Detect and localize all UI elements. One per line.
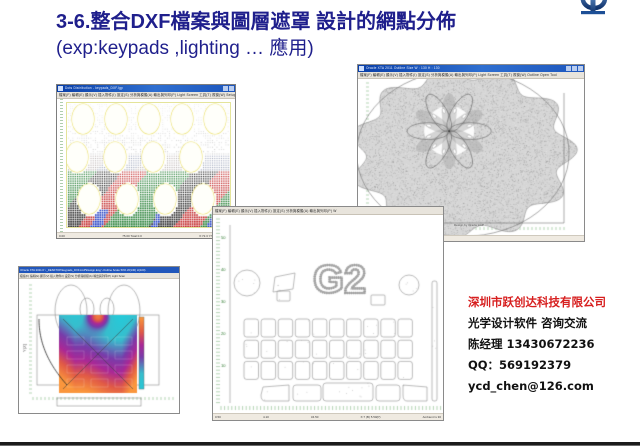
window-statusbar: 0.00 75.00 Total 0.0 X:72.3 Y:50.7 Ambie… [57, 232, 235, 238]
title-line-1: 3-6.整合DXF檔案與圖層遮罩 設計的網點分佈 [56, 10, 526, 35]
window-menubar[interactable]: 檔案(F) 編輯(E) 顯示(V) 插入物件(I) 設定(S) 分析與模擬(A)… [213, 207, 443, 215]
app-icon [359, 66, 364, 71]
status-left: 0.50 [215, 414, 221, 420]
window-titlebar[interactable]: Dots Distribution - keypads_DXF.lgp [57, 85, 235, 92]
window-statusbar: 0.50 4.10 34.50 X:7 (B) 5.50(P) Ambient … [213, 413, 443, 420]
keypad-canvas[interactable] [213, 215, 443, 413]
status-left: 0.00 [59, 233, 65, 238]
window-titlebar[interactable]: Oracle XTA 2011 Outline Size W : 130 H :… [358, 65, 584, 72]
contact-block: 深圳市跃创达科技有限公司 光学设计软件 咨询交流 陈经理 13430672236… [468, 292, 638, 397]
status-b: 34.50 [311, 414, 319, 420]
status-right: X:7 (B) 5.50(P) [361, 414, 381, 420]
contact-service: 光学设计软件 咨询交流 [468, 313, 638, 334]
illuminance-map-window[interactable]: \Oracle XTA 2011.6 \ _DESKTOP\keypads_DX… [18, 266, 180, 414]
g2-corner-logo [572, 0, 618, 28]
dot-distribution-window[interactable]: Dots Distribution - keypads_DXF.lgp 檔案(F… [56, 84, 236, 239]
app-icon [58, 86, 63, 91]
status-a: 4.10 [263, 414, 269, 420]
window-controls[interactable] [566, 66, 583, 71]
window-controls[interactable] [223, 86, 234, 91]
dot-pattern-area[interactable] [66, 102, 231, 228]
status-mid: 75.00 Total 0.0 [122, 233, 142, 238]
window-title-text: Dots Distribution - keypads_DXF.lgp [65, 85, 223, 92]
contact-person: 陈经理 13430672236 [468, 334, 638, 355]
contact-qq: QQ：569192379 [468, 355, 638, 376]
contact-email: ycd_chen@126.com [468, 376, 638, 397]
window-menubar[interactable]: 檔案(F) 編輯(E) 顯示(V) 插入物件(I) 設定(S) 分析與模擬(A)… [57, 92, 235, 99]
status-ambient: Ambient Is 30 [423, 414, 441, 420]
keypad-layout-window[interactable]: 檔案(F) 編輯(E) 顯示(V) 插入物件(I) 設定(S) 分析與模擬(A)… [212, 206, 444, 421]
vertical-ruler [57, 99, 64, 232]
window-title-text: Oracle XTA 2011 Outline Size W : 130 H :… [366, 65, 566, 72]
bottom-divider [0, 441, 640, 447]
heatmap-canvas[interactable] [19, 279, 179, 407]
slide-root: 3-6.整合DXF檔案與圖層遮罩 設計的網點分佈 (exp:keypads ,l… [0, 0, 640, 447]
contact-company: 深圳市跃创达科技有限公司 [468, 292, 638, 313]
slide-title: 3-6.整合DXF檔案與圖層遮罩 設計的網點分佈 (exp:keypads ,l… [56, 10, 526, 61]
window-menubar[interactable]: 檔案(F) 編輯(E) 顯示(V) 插入物件(I) 設定(S) 分析與模擬(A)… [358, 72, 584, 79]
flower-caption: Design by Oracle LGP [454, 223, 484, 227]
dots-canvas[interactable] [57, 99, 235, 232]
title-line-2: (exp:keypads ,lighting … 應用) [56, 36, 526, 61]
